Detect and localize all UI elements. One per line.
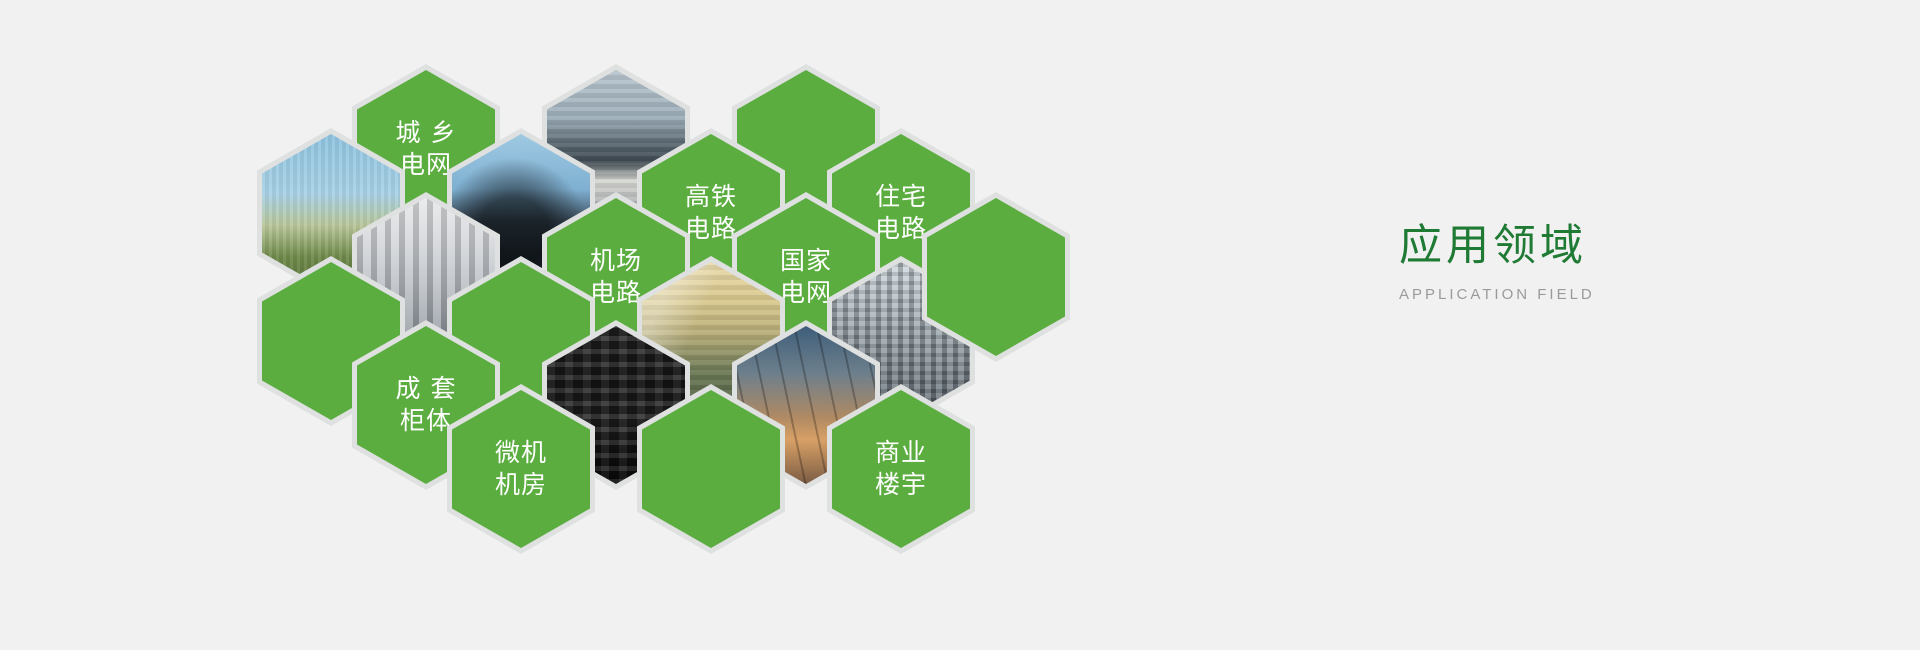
hex-label-microcomputer-room: 微机 机房 xyxy=(495,437,547,501)
page-title: 应用领域 xyxy=(1399,220,1819,272)
hex-inner-green-bottom xyxy=(642,390,780,548)
page-subtitle: APPLICATION FIELD xyxy=(1399,286,1819,303)
title-block: 应用领域 APPLICATION FIELD xyxy=(1399,220,1819,303)
hex-inner-microcomputer-room: 微机 机房 xyxy=(452,390,590,548)
hex-label-airport-circuit: 机场 电路 xyxy=(590,245,642,309)
hex-inner-commercial-building: 商业 楼宇 xyxy=(832,390,970,548)
hex-label-high-speed-rail: 高铁 电路 xyxy=(685,181,737,245)
application-field-banner: 城 乡 电网高铁 电路住宅 电路机场 电路国家 电网成 套 柜体微机 机房商业 … xyxy=(0,0,1920,650)
hex-label-commercial-building: 商业 楼宇 xyxy=(875,437,927,501)
hex-label-residential-circuit: 住宅 电路 xyxy=(875,181,927,245)
hex-label-state-grid: 国家 电网 xyxy=(780,245,832,309)
hex-inner-green-right xyxy=(927,198,1065,356)
